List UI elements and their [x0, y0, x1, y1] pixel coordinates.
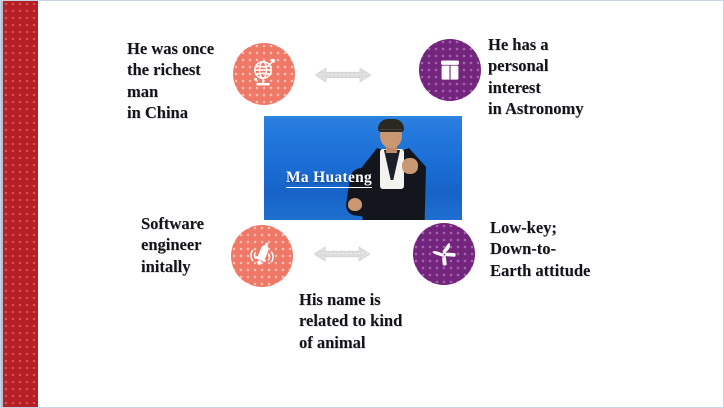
badge-bell[interactable]: [231, 225, 293, 287]
person-silhouette: [340, 116, 444, 220]
bell-icon: [245, 239, 279, 273]
globe-icon: [247, 57, 281, 91]
double-arrow-top: [315, 65, 371, 85]
badge-globe[interactable]: [233, 43, 295, 105]
badge-scissors[interactable]: [413, 223, 475, 285]
fact-text-astronomy-interest: He has a personal interest in Astronomy: [488, 34, 633, 120]
double-arrow-bottom: [314, 244, 370, 264]
slide-canvas: He was once the richest man in China: [0, 0, 724, 408]
book-icon: [434, 54, 466, 86]
badge-book[interactable]: [419, 39, 481, 101]
fact-text-richest-man: He was once the richest man in China: [127, 38, 239, 124]
fact-text-low-key-attitude: Low-key; Down-to- Earth attitude: [490, 217, 630, 281]
photo-caption-name: Ma Huateng: [286, 169, 372, 188]
fact-text-name-animal: His name is related to kind of animal: [299, 289, 449, 353]
scissors-icon: [427, 237, 461, 271]
portrait-photo[interactable]: Ma Huateng: [264, 116, 462, 220]
decorative-red-side-band: [3, 1, 38, 408]
